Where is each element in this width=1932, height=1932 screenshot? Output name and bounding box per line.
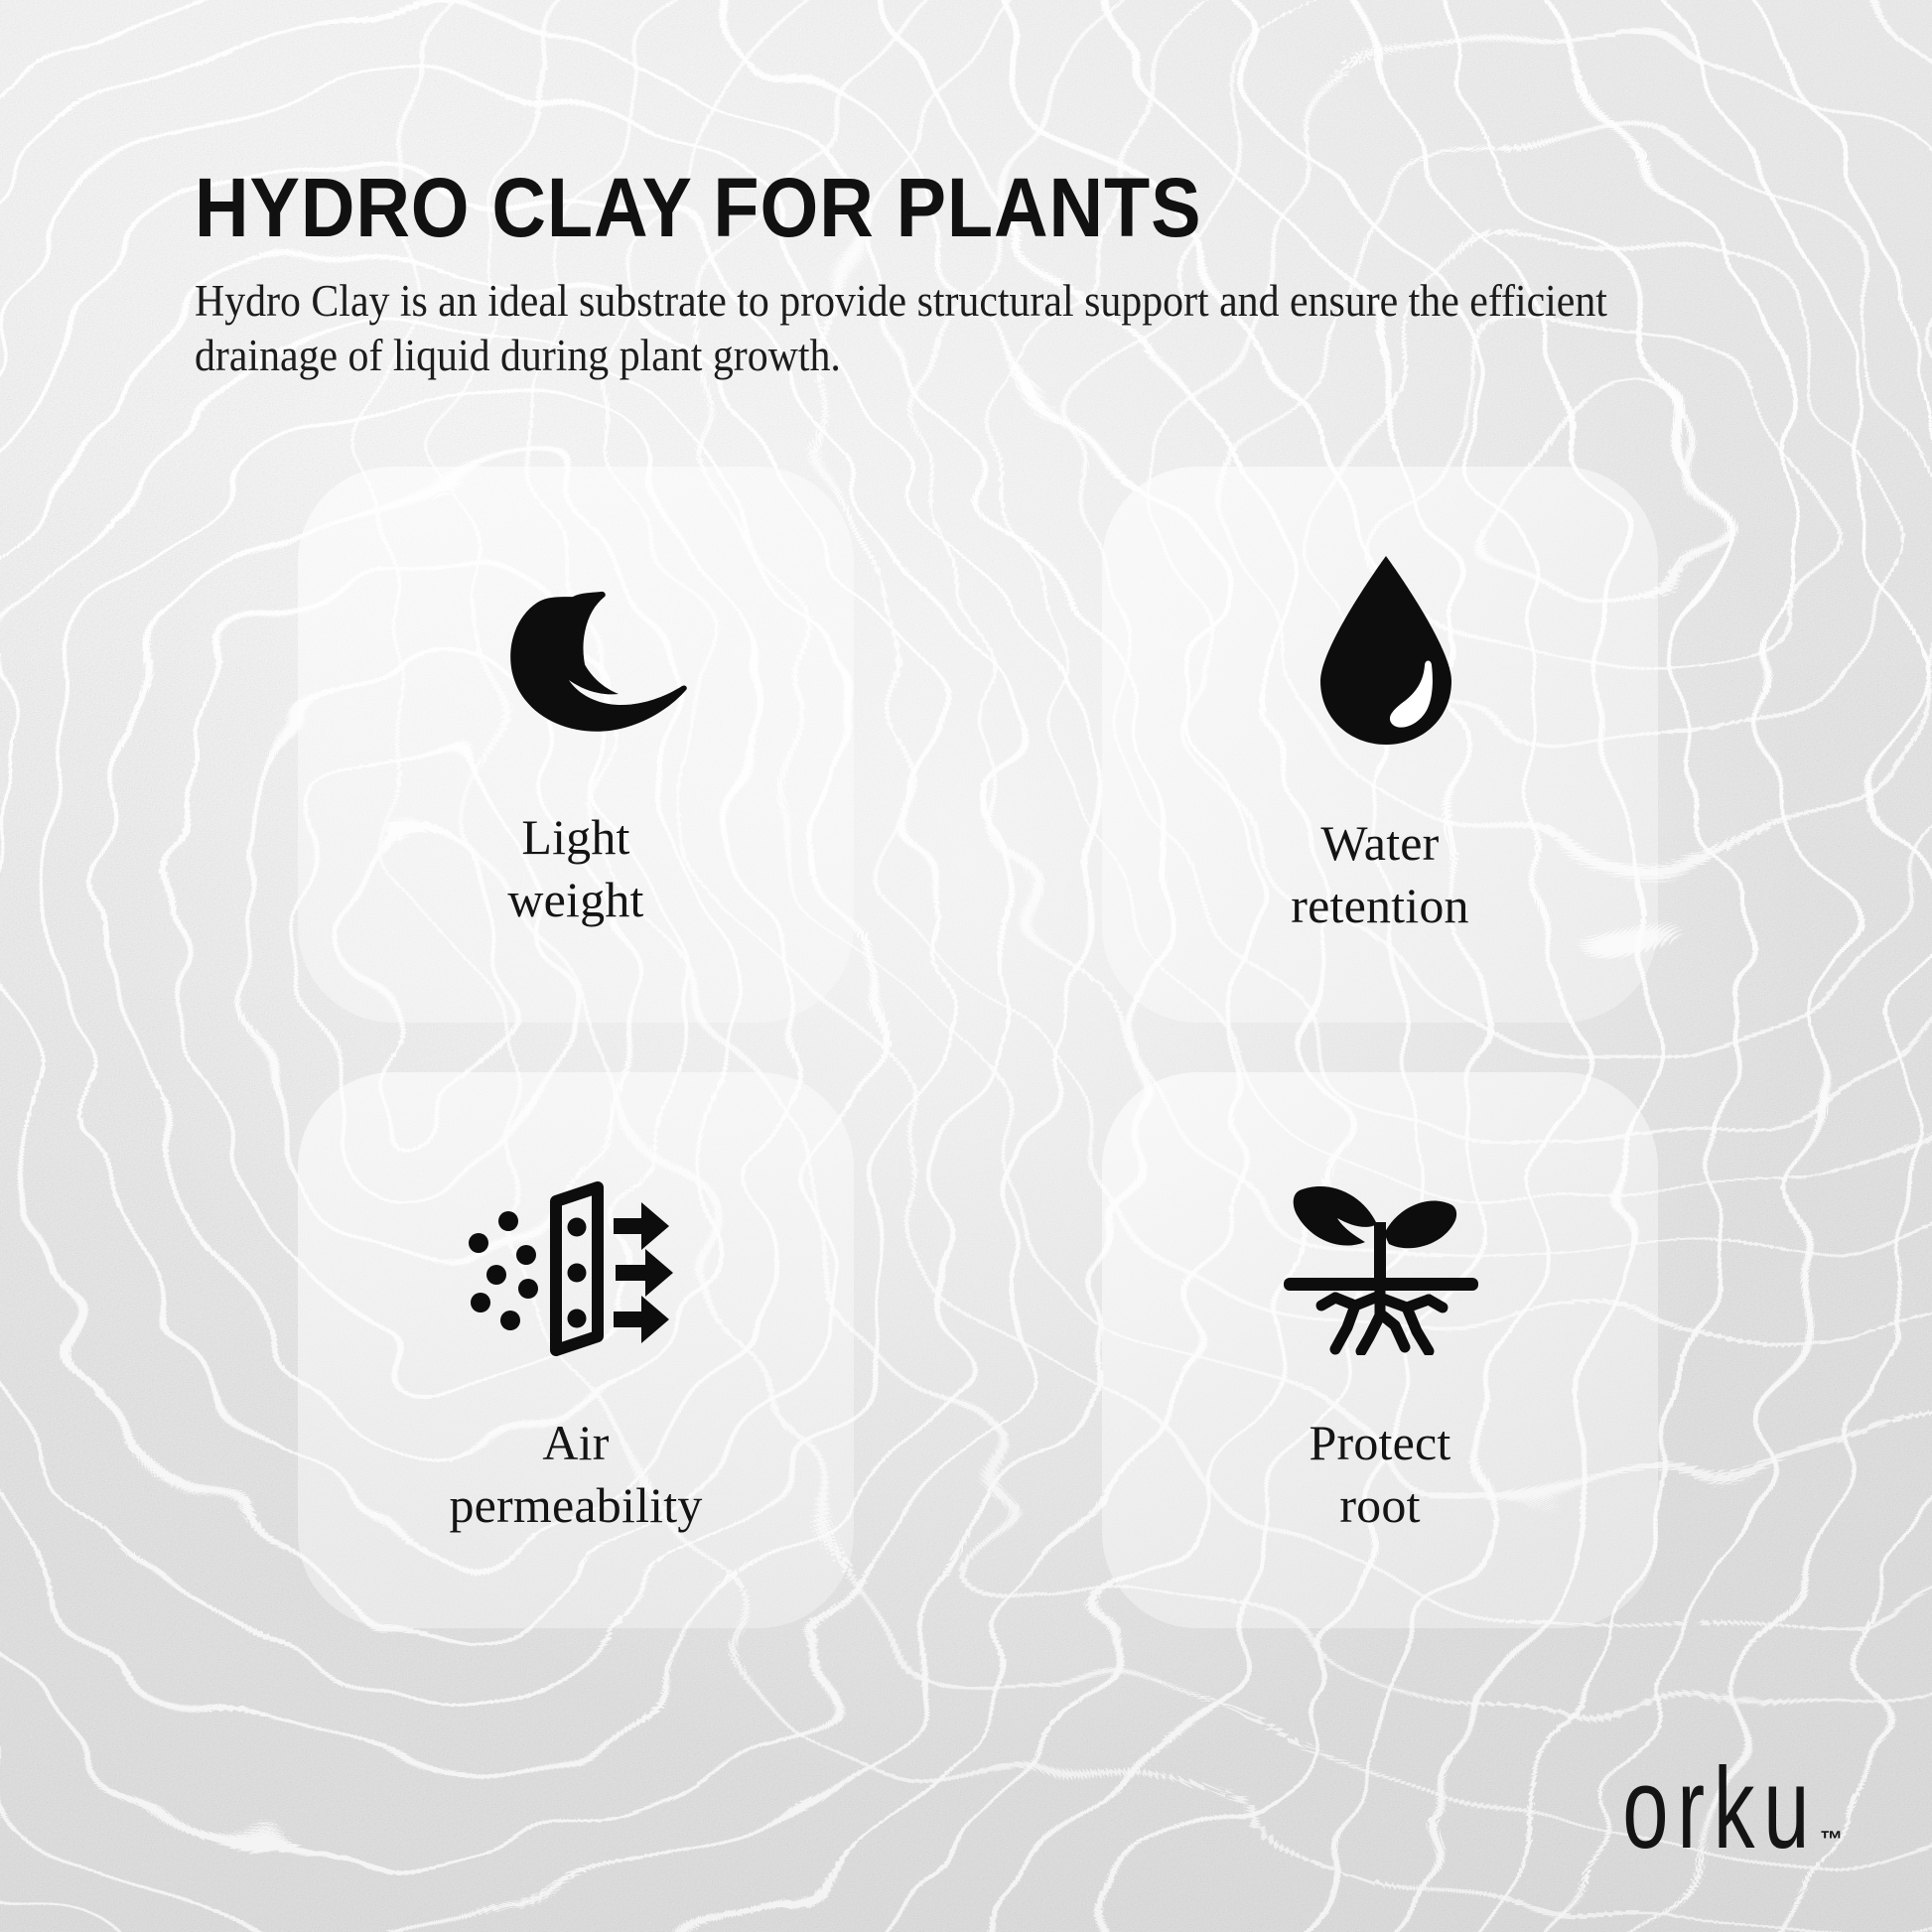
- page-subtitle: Hydro Clay is an ideal substrate to prov…: [195, 274, 1635, 383]
- feature-label: Water retention: [1291, 812, 1469, 937]
- feature-label: Air permeability: [449, 1412, 702, 1537]
- trademark-symbol: ™: [1820, 1826, 1843, 1853]
- feature-label: Protect root: [1309, 1412, 1450, 1537]
- feature-grid: Light weight Water retention: [298, 467, 1658, 1628]
- seedling-root-icon: [1268, 1162, 1496, 1360]
- feature-card-protect-root[interactable]: Protect root: [1102, 1072, 1658, 1628]
- feature-card-air-permeability[interactable]: Air permeability: [298, 1072, 854, 1628]
- header: HYDRO CLAY FOR PLANTS Hydro Clay is an i…: [195, 167, 1743, 383]
- feature-label: Light weight: [507, 806, 643, 931]
- water-drop-icon: [1272, 550, 1500, 749]
- page-title: HYDRO CLAY FOR PLANTS: [195, 167, 1588, 248]
- brand-name: orku: [1622, 1751, 1818, 1866]
- feature-card-water-retention[interactable]: Water retention: [1102, 467, 1658, 1023]
- feather-icon: [474, 566, 702, 764]
- poster-canvas: HYDRO CLAY FOR PLANTS Hydro Clay is an i…: [0, 0, 1932, 1932]
- air-permeability-icon: [456, 1162, 684, 1360]
- feature-card-light-weight[interactable]: Light weight: [298, 467, 854, 1023]
- brand-logo[interactable]: orku ™: [1574, 1763, 1843, 1866]
